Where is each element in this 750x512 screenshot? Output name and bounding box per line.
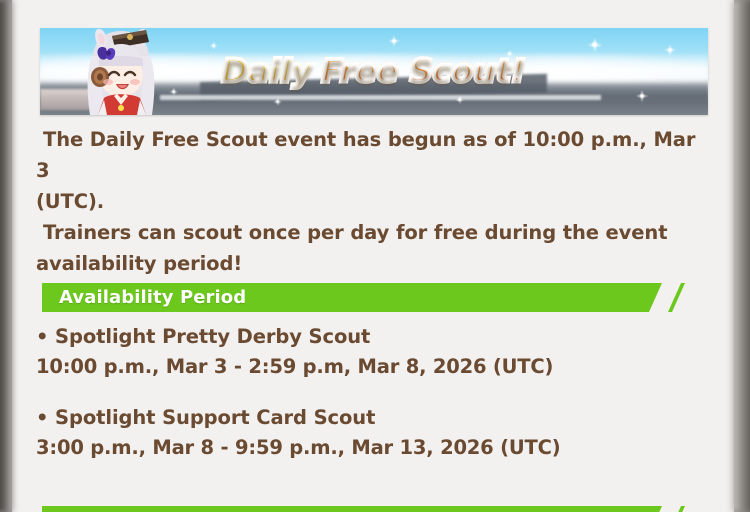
list-item: • Spotlight Support Card Scout 3:00 p.m.… (36, 403, 698, 463)
banner-title-part2: Free Scout! (322, 53, 526, 89)
section-header-slash-icon (668, 283, 685, 312)
banner-title-part1: Daily (222, 53, 313, 89)
sparkle-icon (392, 39, 396, 43)
sparkle-icon (212, 44, 215, 47)
description-line-2: (UTC). (36, 186, 698, 217)
left-screen-gutter (0, 0, 14, 512)
sparkle-icon (668, 48, 672, 52)
section-header-next (42, 506, 689, 512)
event-description: The Daily Free Scout event has begun as … (36, 124, 698, 279)
scout-entry-dates: 3:00 p.m., Mar 8 - 9:59 p.m., Mar 13, 20… (36, 433, 698, 463)
sparkle-icon (640, 94, 644, 98)
section-header-title: Availability Period (59, 283, 246, 312)
sparkle-icon (592, 42, 597, 47)
scout-entry-name: • Spotlight Pretty Derby Scout (36, 322, 698, 352)
right-screen-gutter (731, 0, 750, 512)
description-line-3: Trainers can scout once per day for free… (36, 217, 698, 248)
section-header-availability-period: Availability Period (42, 283, 689, 312)
section-header-slash-icon (668, 506, 685, 512)
description-line-4: availability period! (36, 248, 698, 279)
scout-entry-name: • Spotlight Support Card Scout (36, 403, 698, 433)
list-item: • Spotlight Pretty Derby Scout 10:00 p.m… (36, 322, 698, 382)
news-article-page: DailyFree Scout! The Daily Free Scout ev… (12, 0, 734, 512)
scout-entry-dates: 10:00 p.m., Mar 3 - 2:59 p.m, Mar 8, 202… (36, 352, 698, 382)
event-banner[interactable]: DailyFree Scout! (40, 28, 708, 115)
description-line-1: The Daily Free Scout event has begun as … (36, 124, 698, 186)
section-header-bar (42, 506, 662, 512)
sparkle-icon (458, 98, 461, 101)
sparkle-icon (276, 100, 279, 103)
scout-entry-list: • Spotlight Pretty Derby Scout 10:00 p.m… (36, 322, 698, 484)
character-illustration (62, 28, 180, 115)
grandstand-rail (160, 95, 601, 100)
screenshot-root: DailyFree Scout! The Daily Free Scout ev… (0, 0, 750, 512)
